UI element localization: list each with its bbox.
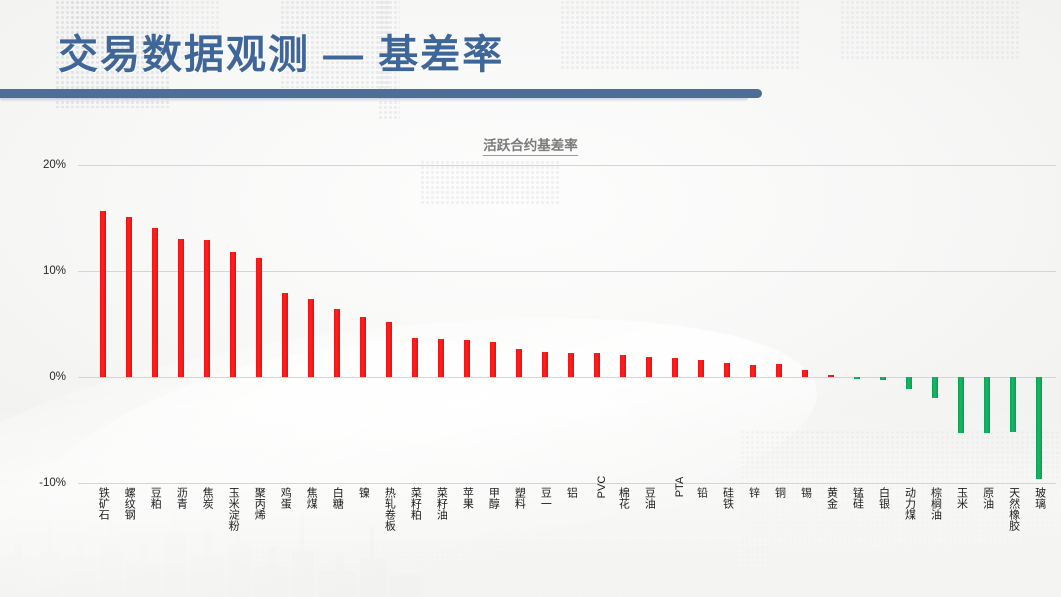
chart-bar	[1036, 377, 1042, 479]
x-axis-tick-label: 热轧卷板	[383, 487, 394, 531]
chart-bar	[412, 338, 418, 377]
chart-bar	[698, 360, 704, 377]
chart-bar	[386, 322, 392, 377]
x-axis-tick-label: 铅	[695, 487, 706, 498]
chart-bar	[828, 375, 834, 377]
x-axis-tick-label: 镍	[357, 487, 368, 498]
y-axis-tick-label: 10%	[43, 265, 66, 277]
chart-bar	[880, 377, 886, 380]
x-axis-tick-label: 动力煤	[904, 487, 915, 520]
chart-bar	[854, 377, 860, 379]
x-axis-tick-label: 豆粕	[149, 487, 160, 509]
y-axis-tick-label: -10%	[39, 477, 66, 489]
chart-bar	[204, 240, 210, 377]
chart-bar	[360, 317, 366, 377]
chart-title: 活跃合约基差率	[0, 134, 1061, 154]
x-axis-tick-label: 玻璃	[1034, 487, 1045, 509]
x-axis-tick-label: 铁矿石	[97, 487, 108, 520]
x-axis-tick-label: 菜籽油	[435, 487, 446, 520]
chart-bar	[542, 352, 548, 377]
x-axis-tick-label: 铜	[773, 487, 784, 498]
x-axis-tick-label: 甲醇	[487, 487, 498, 509]
chart-bar	[724, 363, 730, 377]
chart-bar	[620, 355, 626, 377]
chart-bar	[464, 340, 470, 377]
y-axis-tick-label: 0%	[49, 371, 66, 383]
x-axis-tick-label: 玉米淀粉	[227, 487, 238, 531]
chart-bar	[308, 299, 314, 377]
chart-bar	[802, 370, 808, 377]
x-axis-tick-label: 锡	[799, 487, 810, 498]
x-axis-tick-label: 焦煤	[305, 487, 316, 509]
x-axis-tick-label: 沥青	[175, 487, 186, 509]
chart-bar	[178, 239, 184, 377]
x-axis-tick-label: 玉米	[956, 487, 967, 509]
chart-bar	[282, 293, 288, 377]
chart-bar	[516, 349, 522, 377]
chart-bar	[750, 365, 756, 377]
chart-container: 活跃合约基差率 20%10%0%-10% 铁矿石螺纹钢豆粕沥青焦炭玉米淀粉聚丙烯…	[0, 105, 1061, 597]
chart-bar	[932, 377, 938, 398]
x-axis-tick-label: 白银	[878, 487, 889, 509]
x-axis-tick-label: 锌	[747, 487, 758, 498]
chart-bar	[230, 252, 236, 377]
chart-bar	[334, 309, 340, 377]
bar-series	[78, 165, 1056, 483]
chart-bar	[984, 377, 990, 433]
chart-bar	[958, 377, 964, 433]
x-axis-tick-label: 菜籽粕	[409, 487, 420, 520]
x-axis-tick-label: 天然橡胶	[1008, 487, 1019, 531]
gridline	[78, 483, 1056, 484]
x-axis-tick-label: 棕榈油	[930, 487, 941, 520]
chart-bar	[490, 342, 496, 377]
x-axis-tick-label: PVC	[597, 476, 608, 499]
x-axis-tick-label: 原油	[982, 487, 993, 509]
slide-header: 交易数据观测 — 基差率	[0, 0, 1061, 105]
chart-bar	[438, 339, 444, 377]
chart-bar	[776, 364, 782, 377]
y-axis-tick-label: 20%	[43, 159, 66, 171]
chart-bar	[100, 211, 106, 377]
chart-bar	[672, 358, 678, 377]
chart-title-text: 活跃合约基差率	[483, 138, 578, 156]
x-axis-tick-label: 锰硅	[852, 487, 863, 509]
page-title: 交易数据观测 — 基差率	[58, 22, 504, 80]
x-axis: 铁矿石螺纹钢豆粕沥青焦炭玉米淀粉聚丙烯鸡蛋焦煤白糖镍热轧卷板菜籽粕菜籽油苹果甲醇…	[78, 487, 1056, 597]
chart-bar	[1010, 377, 1016, 432]
chart-bar	[568, 353, 574, 377]
x-axis-tick-label: 豆油	[643, 487, 654, 509]
chart-bar	[646, 357, 652, 377]
x-axis-tick-label: 白糖	[331, 487, 342, 509]
header-accent-shadow	[0, 98, 748, 102]
x-axis-tick-label: 聚丙烯	[253, 487, 264, 520]
x-axis-tick-label: 棉花	[617, 487, 628, 509]
x-axis-tick-label: 焦炭	[201, 487, 212, 509]
x-axis-tick-label: 苹果	[461, 487, 472, 509]
x-axis-tick-label: 硅铁	[721, 487, 732, 509]
chart-bar	[906, 377, 912, 389]
x-axis-tick-label: 螺纹钢	[123, 487, 134, 520]
chart-bar	[152, 228, 158, 377]
header-accent-bar	[0, 89, 762, 98]
x-axis-tick-label: 豆一	[539, 487, 550, 509]
x-axis-tick-label: PTA	[675, 477, 686, 498]
x-axis-tick-label: 黄金	[826, 487, 837, 509]
x-axis-tick-label: 鸡蛋	[279, 487, 290, 509]
chart-bar	[126, 217, 132, 377]
x-axis-tick-label: 塑料	[513, 487, 524, 509]
chart-bar	[594, 353, 600, 377]
chart-bar	[256, 258, 262, 377]
x-axis-tick-label: 铝	[565, 487, 576, 498]
y-axis: 20%10%0%-10%	[0, 165, 72, 483]
